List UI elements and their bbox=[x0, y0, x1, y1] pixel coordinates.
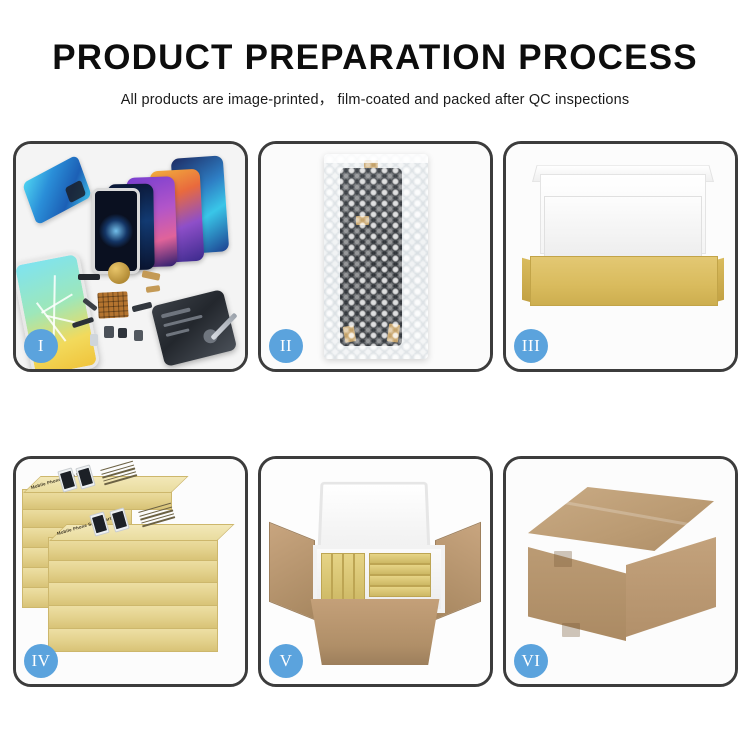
page-title: PRODUCT PREPARATION PROCESS bbox=[0, 40, 750, 75]
packed-box bbox=[369, 575, 431, 586]
step-6-illustration: VI bbox=[506, 459, 735, 684]
connector-chip-part bbox=[97, 291, 128, 319]
step-badge-6: VI bbox=[514, 644, 548, 678]
step-2-illustration: II bbox=[261, 144, 490, 369]
speaker-part bbox=[108, 262, 130, 284]
bubble-wrap-bag bbox=[324, 154, 428, 359]
packed-box bbox=[369, 586, 431, 597]
phone-device-1 bbox=[92, 188, 140, 274]
styrofoam-lid bbox=[317, 482, 430, 554]
white-foam-sheet bbox=[544, 196, 702, 260]
stacked-box bbox=[48, 605, 218, 629]
bubble-texture-highlight bbox=[324, 154, 428, 359]
packed-box bbox=[369, 553, 431, 564]
housing-detail bbox=[166, 328, 190, 337]
carton-tape-patch bbox=[562, 623, 580, 637]
step-badge-1: I bbox=[24, 329, 58, 363]
stacked-box bbox=[48, 582, 218, 606]
small-part bbox=[118, 328, 127, 338]
packed-box bbox=[343, 553, 354, 605]
housing-detail bbox=[161, 307, 191, 318]
process-step-6: VI bbox=[503, 456, 738, 687]
small-part bbox=[104, 326, 114, 338]
packed-box bbox=[321, 553, 332, 605]
page-subtitle: All products are image-printed， film-coa… bbox=[0, 88, 750, 109]
process-step-5: V bbox=[258, 456, 493, 687]
process-step-1: I bbox=[13, 141, 248, 372]
infographic-page: PRODUCT PREPARATION PROCESS All products… bbox=[0, 0, 750, 750]
process-step-2: II bbox=[258, 141, 493, 372]
step-5-illustration: V bbox=[261, 459, 490, 684]
packed-box bbox=[332, 553, 343, 605]
process-step-3: III bbox=[503, 141, 738, 372]
process-grid: I II bbox=[13, 141, 737, 687]
header: PRODUCT PREPARATION PROCESS All products… bbox=[0, 0, 750, 109]
printed-box-top-back bbox=[22, 489, 172, 510]
stacked-box bbox=[48, 559, 218, 583]
process-step-4: Mobile Phone Spare Parts bbox=[13, 456, 248, 687]
stacked-box bbox=[48, 628, 218, 652]
printed-box-top-front bbox=[48, 537, 218, 561]
step-4-illustration: Mobile Phone Spare Parts bbox=[16, 459, 245, 684]
crack-line bbox=[41, 293, 73, 313]
kraft-box-body bbox=[530, 256, 718, 306]
carton-body bbox=[305, 599, 445, 665]
bag-seal bbox=[324, 154, 428, 163]
step-1-illustration: I bbox=[16, 144, 245, 369]
carton-tape-patch bbox=[554, 551, 572, 567]
step-badge-3: III bbox=[514, 329, 548, 363]
step-badge-5: V bbox=[269, 644, 303, 678]
phone-notch bbox=[108, 191, 124, 195]
packed-box bbox=[354, 553, 365, 605]
small-part bbox=[134, 330, 143, 341]
small-part bbox=[90, 334, 98, 346]
small-part bbox=[78, 274, 100, 280]
step-badge-2: II bbox=[269, 329, 303, 363]
packed-box bbox=[369, 564, 431, 575]
step-badge-4: IV bbox=[24, 644, 58, 678]
step-3-illustration: III bbox=[506, 144, 735, 369]
